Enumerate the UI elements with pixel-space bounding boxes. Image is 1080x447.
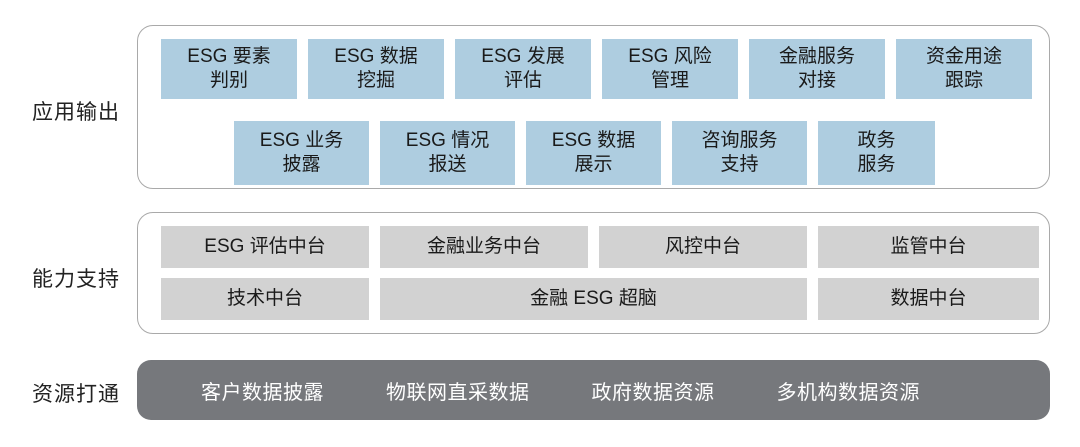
application-row-1: ESG 要素判别 ESG 数据挖掘 ESG 发展评估 ESG 风险管理 金融服务… [161,39,1032,99]
capability-chip-risk-control[interactable]: 风控中台 [599,226,807,268]
application-chip-government-service[interactable]: 政务服务 [818,121,935,185]
capability-chip-esg-superbrain[interactable]: 金融 ESG 超脑 [380,278,807,320]
chip-text: 咨询服务支持 [701,129,777,178]
application-chip-esg-status-report[interactable]: ESG 情况报送 [380,121,515,185]
application-chip-esg-business-disclosure[interactable]: ESG 业务披露 [234,121,369,185]
capability-chip-esg-evaluation[interactable]: ESG 评估中台 [161,226,369,268]
capability-chip-financial-business[interactable]: 金融业务中台 [380,226,588,268]
chip-text: 资金用途跟踪 [926,45,1002,94]
capability-row-2: 技术中台 金融 ESG 超脑 数据中台 [161,278,1039,320]
tier-label-resource: 资源打通 [22,378,130,408]
application-chip-consulting-support[interactable]: 咨询服务支持 [672,121,807,185]
tier-label-application: 应用输出 [22,96,130,126]
chip-text: ESG 业务披露 [260,129,343,178]
application-chip-esg-data-mining[interactable]: ESG 数据挖掘 [308,39,444,99]
resource-item-multi-institution-data[interactable]: 多机构数据资源 [777,376,921,405]
chip-text: 政务服务 [857,129,895,178]
chip-text: ESG 数据展示 [552,129,635,178]
architecture-diagram: 应用输出 ESG 要素判别 ESG 数据挖掘 ESG 发展评估 ESG 风险管理… [0,0,1080,447]
chip-text: ESG 情况报送 [406,129,489,178]
chip-text: 金融服务对接 [779,45,855,94]
application-tier-panel: ESG 要素判别 ESG 数据挖掘 ESG 发展评估 ESG 风险管理 金融服务… [137,25,1050,189]
application-row-2: ESG 业务披露 ESG 情况报送 ESG 数据展示 咨询服务支持 政务服务 [234,121,935,185]
application-chip-esg-risk[interactable]: ESG 风险管理 [602,39,738,99]
chip-text: ESG 风险管理 [628,45,711,94]
application-chip-financial-service[interactable]: 金融服务对接 [749,39,885,99]
resource-item-customer-disclosure[interactable]: 客户数据披露 [201,376,324,405]
application-chip-esg-element[interactable]: ESG 要素判别 [161,39,297,99]
tier-label-capability: 能力支持 [22,263,130,293]
capability-tier-panel: ESG 评估中台 金融业务中台 风控中台 监管中台 技术中台 金融 ESG 超脑… [137,212,1050,334]
application-chip-fund-usage[interactable]: 资金用途跟踪 [896,39,1032,99]
chip-text: ESG 数据挖掘 [334,45,417,94]
chip-text: ESG 要素判别 [187,45,270,94]
application-chip-esg-development[interactable]: ESG 发展评估 [455,39,591,99]
resource-tier-bar: 客户数据披露 物联网直采数据 政府数据资源 多机构数据资源 [137,360,1050,420]
application-chip-esg-data-display[interactable]: ESG 数据展示 [526,121,661,185]
chip-text: ESG 发展评估 [481,45,564,94]
capability-row-1: ESG 评估中台 金融业务中台 风控中台 监管中台 [161,226,1039,268]
resource-item-government-data[interactable]: 政府数据资源 [592,376,715,405]
capability-chip-technology[interactable]: 技术中台 [161,278,369,320]
capability-chip-data-platform[interactable]: 数据中台 [818,278,1039,320]
capability-chip-supervision[interactable]: 监管中台 [818,226,1039,268]
resource-item-iot-direct-data[interactable]: 物联网直采数据 [386,376,530,405]
